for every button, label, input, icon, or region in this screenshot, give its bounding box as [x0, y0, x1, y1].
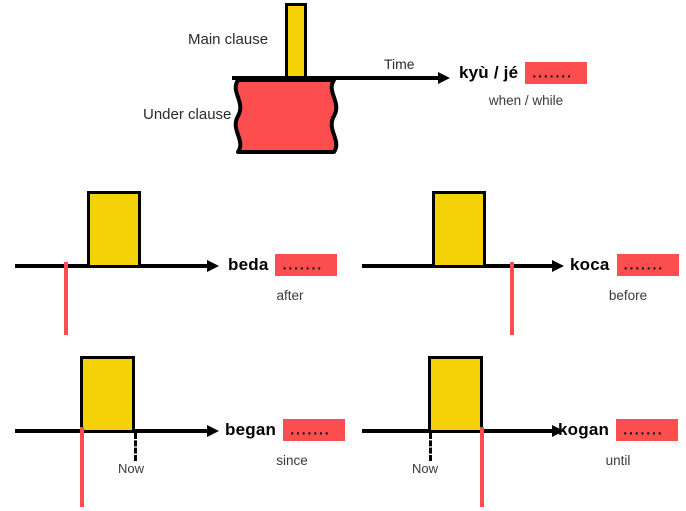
- term-row-before: koca .......: [570, 254, 679, 276]
- blank-badge: .......: [283, 419, 345, 441]
- blank-dots: .......: [532, 66, 572, 81]
- gloss-until: until: [558, 453, 678, 468]
- blank-dots: .......: [290, 423, 330, 438]
- term-row-after: beda .......: [228, 254, 337, 276]
- event-box-until: [428, 356, 483, 433]
- now-marker-since: [134, 433, 137, 461]
- time-axis-svg: [232, 70, 454, 88]
- blank-dots: .......: [282, 258, 322, 273]
- now-marker-until: [429, 433, 432, 461]
- term-row-until: kogan .......: [558, 419, 678, 441]
- term-row-since: began .......: [225, 419, 345, 441]
- term-word: koca: [570, 255, 610, 275]
- time-axis-label: Time: [384, 56, 415, 72]
- event-box-since: [80, 356, 135, 433]
- now-label-since: Now: [118, 461, 144, 476]
- term-word: began: [225, 420, 276, 440]
- term-word: beda: [228, 255, 268, 275]
- reference-line-until: [480, 427, 484, 507]
- blank-badge: .......: [275, 254, 337, 276]
- gloss-before: before: [570, 288, 686, 303]
- gloss-after: after: [228, 288, 352, 303]
- blank-badge: .......: [525, 62, 587, 84]
- reference-line-before: [510, 262, 514, 335]
- time-axis-arrow: [232, 70, 454, 88]
- main-clause-label: Main clause: [188, 31, 268, 48]
- blank-dots: .......: [624, 258, 664, 273]
- gloss-when-while: when / while: [459, 93, 593, 108]
- blank-badge: .......: [616, 419, 678, 441]
- term-word: kyù / jé: [459, 63, 518, 83]
- reference-line-since: [80, 427, 84, 507]
- gloss-since: since: [225, 453, 359, 468]
- reference-line-after: [64, 262, 68, 335]
- diagram-canvas: Main clause Under clause Time kyù / jé .…: [0, 0, 686, 511]
- term-row-when-while: kyù / jé .......: [459, 62, 587, 84]
- blank-badge: .......: [617, 254, 679, 276]
- event-box-before: [432, 191, 486, 268]
- blank-dots: .......: [623, 423, 663, 438]
- under-clause-label: Under clause: [143, 106, 231, 123]
- now-label-until: Now: [412, 461, 438, 476]
- term-word: kogan: [558, 420, 609, 440]
- event-box-after: [87, 191, 141, 268]
